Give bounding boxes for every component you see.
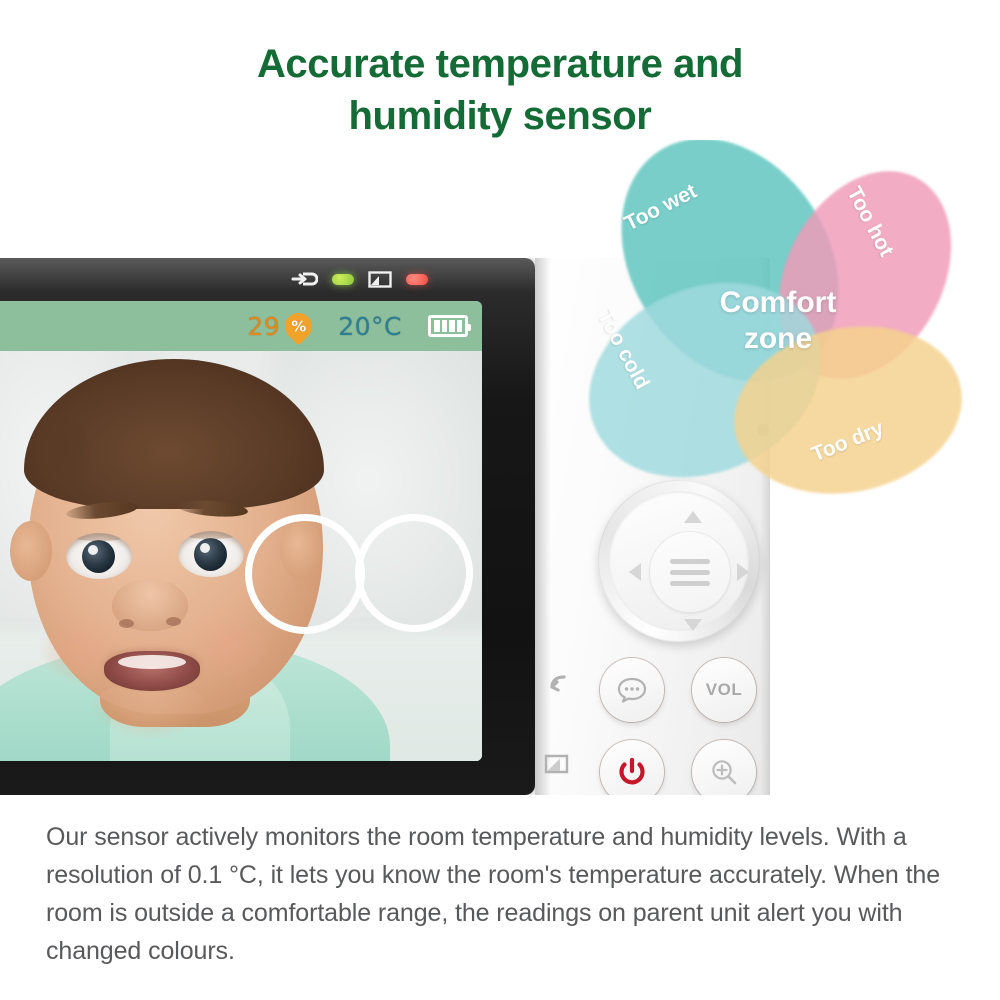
battery-bar: [442, 320, 448, 332]
back-button[interactable]: [547, 670, 573, 696]
dpad-right-icon[interactable]: [737, 563, 749, 581]
venn-center-label: Comfort zone: [678, 285, 878, 357]
red-led: [406, 274, 428, 285]
talk-button[interactable]: [600, 658, 664, 722]
battery-bar: [449, 320, 455, 332]
battery-bar: [457, 320, 463, 332]
humidity-value: 29: [247, 312, 280, 341]
description-paragraph: Our sensor actively monitors the room te…: [46, 818, 946, 970]
page-title-line-1: Accurate temperature and: [0, 38, 1000, 90]
battery-bar: [434, 320, 440, 332]
dpad-down-icon[interactable]: [684, 619, 702, 631]
power-icon: [618, 757, 646, 787]
volume-button[interactable]: VOL: [692, 658, 756, 722]
temperature-value: 20°C: [338, 312, 402, 341]
menu-line: [670, 581, 710, 586]
humidity-reading: 29 %: [247, 312, 312, 341]
baby-nostril-right: [166, 617, 181, 626]
baby-eye-left: [66, 533, 132, 579]
baby-nostril-left: [119, 619, 134, 628]
humidity-highlight-ring: [245, 514, 365, 634]
baby-eyelid-right: [178, 531, 244, 539]
dpad-left-icon[interactable]: [629, 563, 641, 581]
baby-iris-right: [194, 538, 227, 571]
baby-eye-right: [178, 531, 244, 577]
humidity-drop-icon: %: [280, 307, 318, 345]
volume-button-label: VOL: [706, 680, 742, 700]
promo-page: Accurate temperature and humidity sensor: [0, 0, 1000, 1000]
baby-mouth: [104, 651, 200, 691]
speech-bubble-icon: [617, 677, 647, 703]
temperature-highlight-ring: [355, 514, 473, 632]
dpad-ring[interactable]: [609, 491, 749, 631]
battery-icon: [428, 315, 468, 337]
menu-line: [670, 559, 710, 564]
comfort-zone-venn-diagram: Too wet Too hot Too cold Too dry Comfort…: [560, 140, 990, 500]
camera-icon: [368, 271, 392, 288]
screen-off-icon: [543, 752, 573, 778]
humidity-unit: %: [291, 317, 307, 335]
temperature-reading: 20°C: [338, 312, 402, 341]
power-button[interactable]: [600, 740, 664, 795]
baby-ear-left: [10, 521, 52, 581]
dpad-up-icon[interactable]: [684, 511, 702, 523]
baby-eyelid-left: [66, 533, 132, 541]
page-title: Accurate temperature and humidity sensor: [0, 38, 1000, 142]
link-icon: [290, 272, 318, 286]
page-title-line-2: humidity sensor: [0, 90, 1000, 142]
dpad-control[interactable]: [598, 480, 760, 642]
menu-button[interactable]: [649, 531, 731, 613]
baby-iris-left: [82, 540, 115, 573]
green-led: [332, 274, 354, 285]
screen-status-bar: 29 % 20°C: [0, 301, 482, 351]
body-shadow: [535, 258, 551, 795]
venn-center-line-1: Comfort: [678, 285, 878, 321]
screen-off-button[interactable]: [543, 752, 573, 778]
magnifier-plus-icon: [710, 758, 738, 786]
venn-center-line-2: zone: [678, 321, 878, 357]
zoom-button[interactable]: [692, 740, 756, 795]
menu-icon: [670, 559, 710, 586]
menu-line: [670, 570, 710, 575]
bezel-indicator-row: [290, 266, 490, 292]
